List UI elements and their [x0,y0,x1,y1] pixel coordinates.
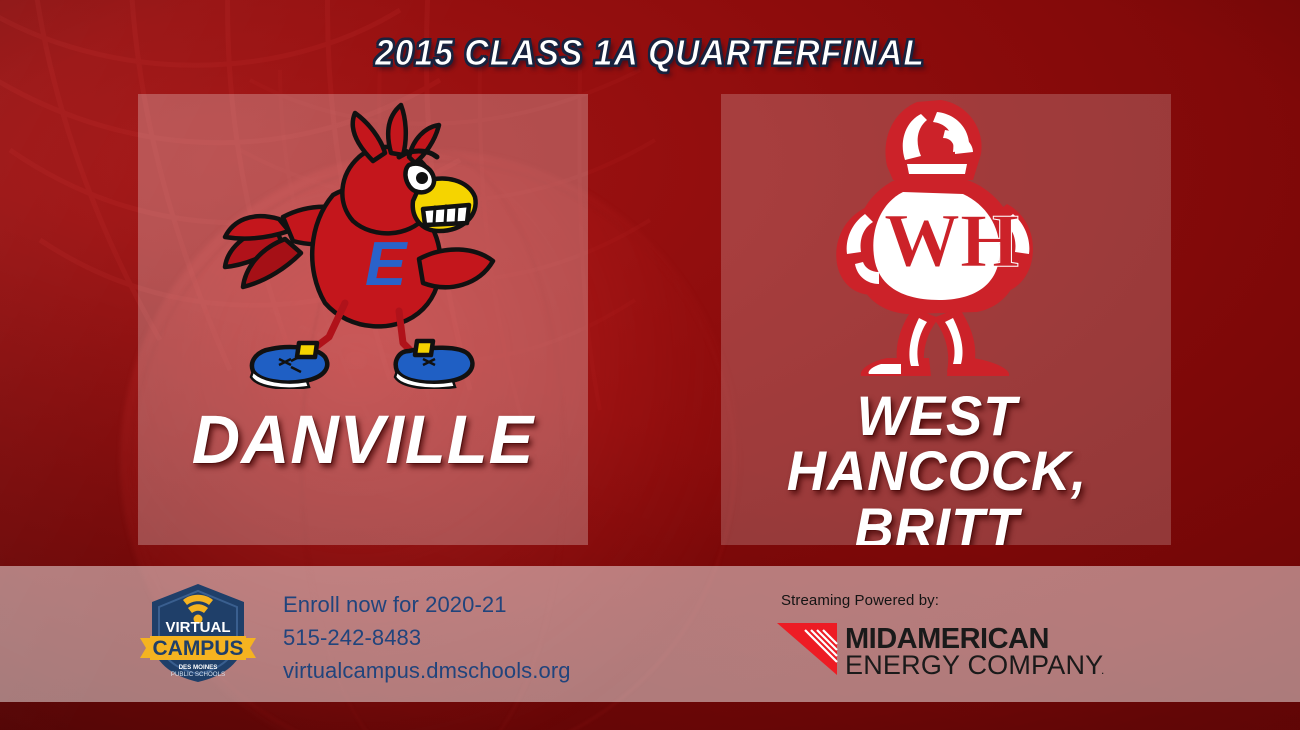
trademark-mark: . [1101,663,1104,677]
eagle-chest-letters: WH [884,199,1019,283]
energy-company-wordmark: ENERGY COMPANY [845,650,1103,677]
virtual-campus-sub2: PUBLIC SCHOOLS [171,671,225,678]
virtual-campus-sub1: DES MOINES [179,664,218,671]
enroll-info: Enroll now for 2020-21 515-242-8483 virt… [283,588,571,687]
virtual-campus-line2: CAMPUS [152,637,243,660]
page-title: 2015 CLASS 1A QUARTERFINAL [46,31,1255,75]
eagle-mascot-icon: WH [821,94,1071,379]
team-name-line-2: BRITT [727,501,1146,545]
streaming-powered-by-label: Streaming Powered by: [781,592,939,609]
team-name-west-hancock: WEST HANCOCK, BRITT [721,379,1171,545]
cardinal-chest-letter: E [365,230,408,299]
team-panel-danville: E DANVILLE [138,94,588,545]
enroll-website[interactable]: virtualcampus.dmschools.org [283,654,571,687]
virtual-campus-logo: VIRTUAL CAMPUS DES MOINES PUBLIC SCHOOLS [140,576,256,686]
team-logo-wrap: WH [721,94,1171,379]
matchup-graphic: 2015 CLASS 1A QUARTERFINAL [0,0,1300,730]
team-name-line-1: WEST HANCOCK, [727,389,1146,499]
virtual-campus-line1: VIRTUAL [166,619,231,636]
team-panel-west-hancock: WH WEST HANCOCK, BRITT [721,94,1171,545]
enroll-phone: 515-242-8483 [283,621,571,654]
midamerican-energy-logo: MIDAMERICAN ENERGY COMPANY . [775,621,1113,677]
team-name-danville: DANVILLE [153,406,572,474]
cardinal-mascot-icon: E [213,99,513,389]
team-logo-wrap: E [138,94,588,394]
enroll-line-1: Enroll now for 2020-21 [283,588,571,621]
